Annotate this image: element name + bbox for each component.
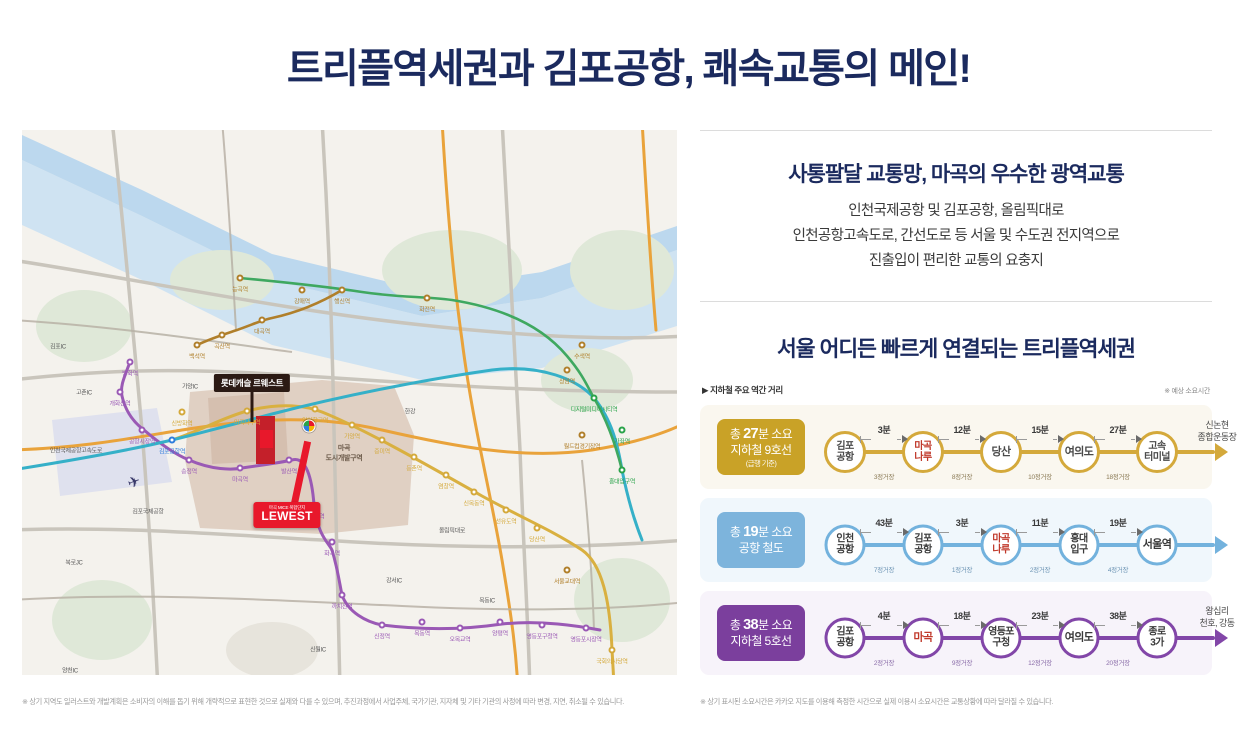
map-place-label: 김포IC xyxy=(50,342,66,351)
map-station-dot[interactable] xyxy=(471,489,478,496)
subway-line-row-line9[interactable]: 총 27분 소요지하철 9호선(급행 기준)김포공항마곡나루당산여의도고속터미널… xyxy=(700,405,1212,489)
map-station-name: 영등포구청역 xyxy=(526,632,557,641)
map-station-name: 화곡역 xyxy=(324,549,340,558)
line-badge-line9: 총 27분 소요지하철 9호선(급행 기준) xyxy=(717,419,805,475)
line-badge-name: 지하철 9호선 xyxy=(730,443,791,459)
line-rail-arrow-icon xyxy=(1215,629,1228,647)
map-station-dot[interactable] xyxy=(457,625,464,632)
map-station-dot[interactable] xyxy=(339,592,346,599)
segment-time: 18분 xyxy=(953,609,970,622)
map-place-label: 신월IC xyxy=(310,645,326,654)
map-station-name: 선유도역 xyxy=(496,517,517,526)
line-rail-arrow-icon xyxy=(1215,536,1228,554)
segment-stop-count: 9정거장 xyxy=(952,657,972,667)
map-station-name: 증미역 xyxy=(374,447,390,456)
station-label: 인천공항 xyxy=(836,534,853,556)
segment-stop-count: 1정거장 xyxy=(952,564,972,574)
segment-arrow-icon xyxy=(980,435,986,443)
map-station-dot[interactable] xyxy=(237,275,244,282)
map-station-name: 상암역 xyxy=(559,377,575,386)
station-label: 여의도 xyxy=(1065,632,1094,644)
footnote-right: ※ 상기 표시된 소요시간은 카카오 지도를 이용해 측정한 시간으로 실제 이… xyxy=(700,697,1053,707)
segment-line-left xyxy=(860,532,872,533)
segment-stop-count: 4정거장 xyxy=(1108,564,1128,574)
map-station-name: 등촌역 xyxy=(406,464,422,473)
map-district-label-1: 마곡 xyxy=(338,443,350,453)
station-label: 마곡나루 xyxy=(914,441,931,463)
map-station-name: 김포공항역 xyxy=(159,447,185,456)
segment-line-right xyxy=(975,625,980,626)
map-station-name: 능곡역 xyxy=(232,285,248,294)
lewest-badge-title: LEWEST xyxy=(261,510,312,523)
map-station-name: 염창역 xyxy=(438,482,454,491)
station-label: 홍대입구 xyxy=(1070,534,1087,556)
map-place-label: 가양IC xyxy=(182,382,198,391)
map-station-dot[interactable] xyxy=(237,465,244,472)
map-station-name: 신정역 xyxy=(374,632,390,641)
map-place-label: 양천IC xyxy=(62,666,78,675)
map-station-name: 신방화역 xyxy=(172,419,193,428)
map-place-label: 강서IC xyxy=(386,576,402,585)
line-badge-airport: 총 19분 소요공항 철도 xyxy=(717,512,805,568)
segment-time: 15분 xyxy=(1031,423,1048,436)
map-station-name: 발산역 xyxy=(281,467,297,476)
segment-line-left xyxy=(938,625,950,626)
map-station-name: 가양역 xyxy=(344,432,360,441)
page-title: 트리플역세권과 김포공항, 쾌속교통의 메인! xyxy=(0,36,1257,94)
map-station-dot[interactable] xyxy=(186,457,193,464)
map-station-dot[interactable] xyxy=(579,432,586,439)
map-station-dot[interactable] xyxy=(424,295,431,302)
map-station-dot[interactable] xyxy=(583,625,590,632)
station-label: 당산 xyxy=(991,446,1010,458)
segment-line-left xyxy=(1016,532,1028,533)
map-station-name: 화전역 xyxy=(419,305,435,314)
map-station-dot[interactable] xyxy=(169,437,176,444)
station-node-서울역[interactable]: 서울역 xyxy=(1137,524,1178,565)
line-badge-name: 지하철 5호선 xyxy=(730,634,791,650)
map-station-dot[interactable] xyxy=(564,367,571,374)
segment-line-left xyxy=(938,532,950,533)
map-station-dot[interactable] xyxy=(564,567,571,574)
map-station-name: 방화역 xyxy=(122,369,138,378)
map-station-dot[interactable] xyxy=(244,408,251,415)
map-station-name: 국회의사당역 xyxy=(596,657,627,666)
subway-legend-right: ※ 예상 소요시간 xyxy=(1164,386,1210,396)
map-district-label-2: 도시개발구역 xyxy=(326,453,363,463)
segment-line-right xyxy=(1053,439,1057,440)
segment-stop-count: 18정거장 xyxy=(1106,471,1130,481)
map-station-dot[interactable] xyxy=(579,342,586,349)
right-panel: 사통팔달 교통망, 마곡의 우수한 광역교통 인천국제공항 및 김포공항, 올림… xyxy=(700,130,1212,675)
segment-stop-count: 10정거장 xyxy=(1028,471,1052,481)
map-station-dot[interactable] xyxy=(503,507,510,514)
station-label: 서울역 xyxy=(1143,539,1172,551)
map-station-dot[interactable] xyxy=(194,342,201,349)
subway-heading: 서울 어디든 빠르게 연결되는 트리플역세권 xyxy=(700,332,1212,363)
map-station-dot[interactable] xyxy=(127,359,134,366)
segment-line-right xyxy=(897,439,901,440)
map-station-dot[interactable] xyxy=(299,287,306,294)
line-end-label: 왕십리천호, 강동 xyxy=(1199,605,1234,629)
segment-stop-count: 2정거장 xyxy=(874,657,894,667)
map-station-name: 수색역 xyxy=(574,352,590,361)
map-station-name: 행신역 xyxy=(334,297,350,306)
segment-line-right xyxy=(1131,625,1136,626)
site-marker-icon xyxy=(303,420,316,433)
segment-time: 43분 xyxy=(875,516,892,529)
line-track-line9: 김포공항마곡나루당산여의도고속터미널3분3정거장12분8정거장15분10정거장2… xyxy=(805,405,1212,489)
line-badge-name: 공항 철도 xyxy=(739,541,784,557)
divider-top xyxy=(700,130,1212,131)
segment-arrow-icon xyxy=(903,621,909,629)
segment-line-left xyxy=(1094,532,1106,533)
map-station-name: 까치산역 xyxy=(332,602,353,611)
segment-stop-count: 7정거장 xyxy=(874,564,894,574)
map-station-dot[interactable] xyxy=(286,457,293,464)
station-label: 고속터미널 xyxy=(1144,441,1170,463)
traffic-heading: 사통팔달 교통망, 마곡의 우수한 광역교통 xyxy=(700,158,1212,188)
map-station-dot[interactable] xyxy=(619,427,626,434)
station-label: 김포공항 xyxy=(914,534,931,556)
map-station-dot[interactable] xyxy=(619,467,626,474)
map-station-name: 영등포시장역 xyxy=(570,635,601,644)
map-station-dot[interactable] xyxy=(117,389,124,396)
station-label: 마곡 xyxy=(913,632,932,644)
segment-arrow-icon xyxy=(903,528,909,536)
map-place-label: 북로JC xyxy=(65,558,82,567)
segment-time: 23분 xyxy=(1031,609,1048,622)
map-callout-stem xyxy=(251,388,254,422)
line-badge-total: 총 38분 소요 xyxy=(730,616,792,634)
map-station-name: 서울교대역 xyxy=(554,577,580,586)
subway-line-row-airport[interactable]: 총 19분 소요공항 철도인천공항김포공항마곡나루홍대입구서울역43분7정거장3… xyxy=(700,498,1212,582)
segment-time: 3분 xyxy=(956,516,969,529)
map-station-name: 양평역 xyxy=(492,629,508,638)
segment-time: 27분 xyxy=(1109,423,1126,436)
traffic-body-line-1: 인천국제공항 및 김포공항, 올림픽대로 xyxy=(700,199,1212,224)
segment-line-right xyxy=(897,625,902,626)
segment-line-right xyxy=(975,439,979,440)
traffic-body: 인천국제공항 및 김포공항, 올림픽대로 인천공항고속도로, 간선도로 등 서울… xyxy=(700,199,1212,274)
map-station-name: 백석역 xyxy=(189,352,205,361)
segment-time: 19분 xyxy=(1109,516,1126,529)
map-station-name: 공항시장역 xyxy=(129,437,155,446)
map-station-name: 당산역 xyxy=(529,535,545,544)
station-label: 김포공항 xyxy=(836,627,853,649)
map-place-label: 한강 xyxy=(405,407,415,416)
segment-stop-count: 8정거장 xyxy=(952,471,972,481)
subway-legend-row: ▶ 지하철 주요 역간 거리 ※ 예상 소요시간 xyxy=(700,384,1212,396)
segment-line-right xyxy=(975,532,980,533)
station-label: 마곡나루 xyxy=(992,534,1009,556)
map-station-name: 홍대입구역 xyxy=(609,477,635,486)
segment-arrow-icon xyxy=(1137,528,1143,536)
map-place-label: 고촌IC xyxy=(76,388,92,397)
divider-middle xyxy=(700,301,1212,302)
segment-line-right xyxy=(1131,439,1135,440)
segment-line-left xyxy=(860,439,871,440)
map-station-dot[interactable] xyxy=(379,437,386,444)
segment-arrow-icon xyxy=(1136,435,1142,443)
segment-line-left xyxy=(938,439,949,440)
map-station-name: 대곡역 xyxy=(254,327,270,336)
line-end-label: 신논현종합운동장 xyxy=(1198,419,1237,443)
map-station-dot[interactable] xyxy=(349,422,356,429)
map-station-name: 신목동역 xyxy=(464,499,485,508)
segment-time: 38분 xyxy=(1109,609,1126,622)
segment-line-right xyxy=(1053,532,1058,533)
map-station-dot[interactable] xyxy=(179,409,186,416)
map-place-label: 올림픽대로 xyxy=(439,526,465,535)
segment-line-left xyxy=(1016,625,1028,626)
page-root: 트리플역세권과 김포공항, 쾌속교통의 메인! xyxy=(0,0,1257,751)
station-label: 여의도 xyxy=(1065,446,1094,458)
map-place-label: 목동IC xyxy=(479,596,495,605)
traffic-body-line-3: 진출입이 편리한 교통의 요충지 xyxy=(700,249,1212,274)
subway-legend-left: ▶ 지하철 주요 역간 거리 xyxy=(702,384,783,396)
map-station-name: 강매역 xyxy=(294,297,310,306)
segment-stop-count: 12정거장 xyxy=(1028,657,1052,667)
map-station-dot[interactable] xyxy=(259,317,266,324)
segment-arrow-icon xyxy=(1059,621,1065,629)
segment-line-right xyxy=(1131,532,1136,533)
line-badge-line5: 총 38분 소요지하철 5호선 xyxy=(717,605,805,661)
map-station-dot[interactable] xyxy=(419,619,426,626)
map-station-dot[interactable] xyxy=(219,332,226,339)
segment-stop-count: 2정거장 xyxy=(1030,564,1050,574)
segment-stop-count: 20정거장 xyxy=(1106,657,1130,667)
segment-line-left xyxy=(860,625,872,626)
traffic-body-line-2: 인천공항고속도로, 간선도로 등 서울 및 수도권 전지역으로 xyxy=(700,224,1212,249)
station-label: 영등포구청 xyxy=(988,627,1014,649)
subway-lines-container: 총 27분 소요지하철 9호선(급행 기준)김포공항마곡나루당산여의도고속터미널… xyxy=(700,405,1212,675)
line-badge-total: 총 27분 소요 xyxy=(730,425,792,443)
map-station-dot[interactable] xyxy=(497,619,504,626)
segment-arrow-icon xyxy=(981,621,987,629)
map-place-label: 김포국제공항 xyxy=(132,507,163,516)
segment-time: 11분 xyxy=(1032,516,1049,529)
subway-line-row-line5[interactable]: 총 38분 소요지하철 5호선김포공항마곡영등포구청여의도종로3가4분2정거장1… xyxy=(700,591,1212,675)
station-label: 종로3가 xyxy=(1148,627,1165,649)
map-station-dot[interactable] xyxy=(591,395,598,402)
map-station-dot[interactable] xyxy=(411,454,418,461)
segment-line-right xyxy=(897,532,902,533)
map-station-dot[interactable] xyxy=(539,622,546,629)
segment-line-left xyxy=(1094,439,1105,440)
segment-time: 3분 xyxy=(878,423,891,436)
map-station-name: 송정역 xyxy=(181,467,197,476)
map-station-name: 오목교역 xyxy=(450,635,471,644)
segment-arrow-icon xyxy=(981,528,987,536)
segment-arrow-icon xyxy=(1059,528,1065,536)
area-map[interactable]: 마곡나루역신방화역양천향교역가양역증미역등촌역염창역신목동역선유도역당산역공항시… xyxy=(22,130,677,675)
map-station-name: 월드컵경기장역 xyxy=(564,442,601,451)
line-rail-arrow-icon xyxy=(1215,443,1228,461)
map-station-dot[interactable] xyxy=(339,287,346,294)
segment-line-right xyxy=(1053,625,1058,626)
segment-time: 12분 xyxy=(953,423,970,436)
map-station-name: 디지털미디어시티역 xyxy=(571,405,618,414)
segment-stop-count: 3정거장 xyxy=(874,471,894,481)
map-station-dot[interactable] xyxy=(443,472,450,479)
map-station-dot[interactable] xyxy=(609,647,616,654)
segment-arrow-icon xyxy=(1058,435,1064,443)
map-station-name: 목동역 xyxy=(414,629,430,638)
line-track-airport: 인천공항김포공항마곡나루홍대입구서울역43분7정거장3분1정거장11분2정거장1… xyxy=(805,498,1212,582)
map-station-name: 곡산역 xyxy=(214,342,230,351)
station-label: 김포공항 xyxy=(836,441,853,463)
map-station-dot[interactable] xyxy=(312,406,319,413)
lewest-badge[interactable]: 마곡 MICE 복합단지 LEWEST xyxy=(253,502,320,528)
map-station-name: 마곡역 xyxy=(232,475,248,484)
map-station-name: 개화산역 xyxy=(110,399,131,408)
station-node-종로3가[interactable]: 종로3가 xyxy=(1137,617,1178,658)
map-station-dot[interactable] xyxy=(329,539,336,546)
map-station-dot[interactable] xyxy=(379,622,386,629)
map-station-dot[interactable] xyxy=(534,525,541,532)
map-station-name: 마곡나루역 xyxy=(234,418,260,427)
map-station-name: 가좌역 xyxy=(614,437,630,446)
map-station-dot[interactable] xyxy=(139,427,146,434)
segment-line-left xyxy=(1016,439,1027,440)
line-badge-total: 총 19분 소요 xyxy=(730,523,792,541)
segment-arrow-icon xyxy=(902,435,908,443)
line-badge-note: (급행 기준) xyxy=(746,459,776,469)
footnote-left: ※ 상기 지역도 일러스트와 개발계획은 소비자의 이해를 돕기 위해 개략적으… xyxy=(22,697,624,707)
segment-arrow-icon xyxy=(1137,621,1143,629)
segment-line-left xyxy=(1094,625,1106,626)
station-node-고속터미널[interactable]: 고속터미널 xyxy=(1136,431,1178,473)
map-place-label: 인천국제공항고속도로 xyxy=(50,446,102,455)
segment-time: 4분 xyxy=(878,609,891,622)
line-track-line5: 김포공항마곡영등포구청여의도종로3가4분2정거장18분9정거장23분12정거장3… xyxy=(805,591,1212,675)
